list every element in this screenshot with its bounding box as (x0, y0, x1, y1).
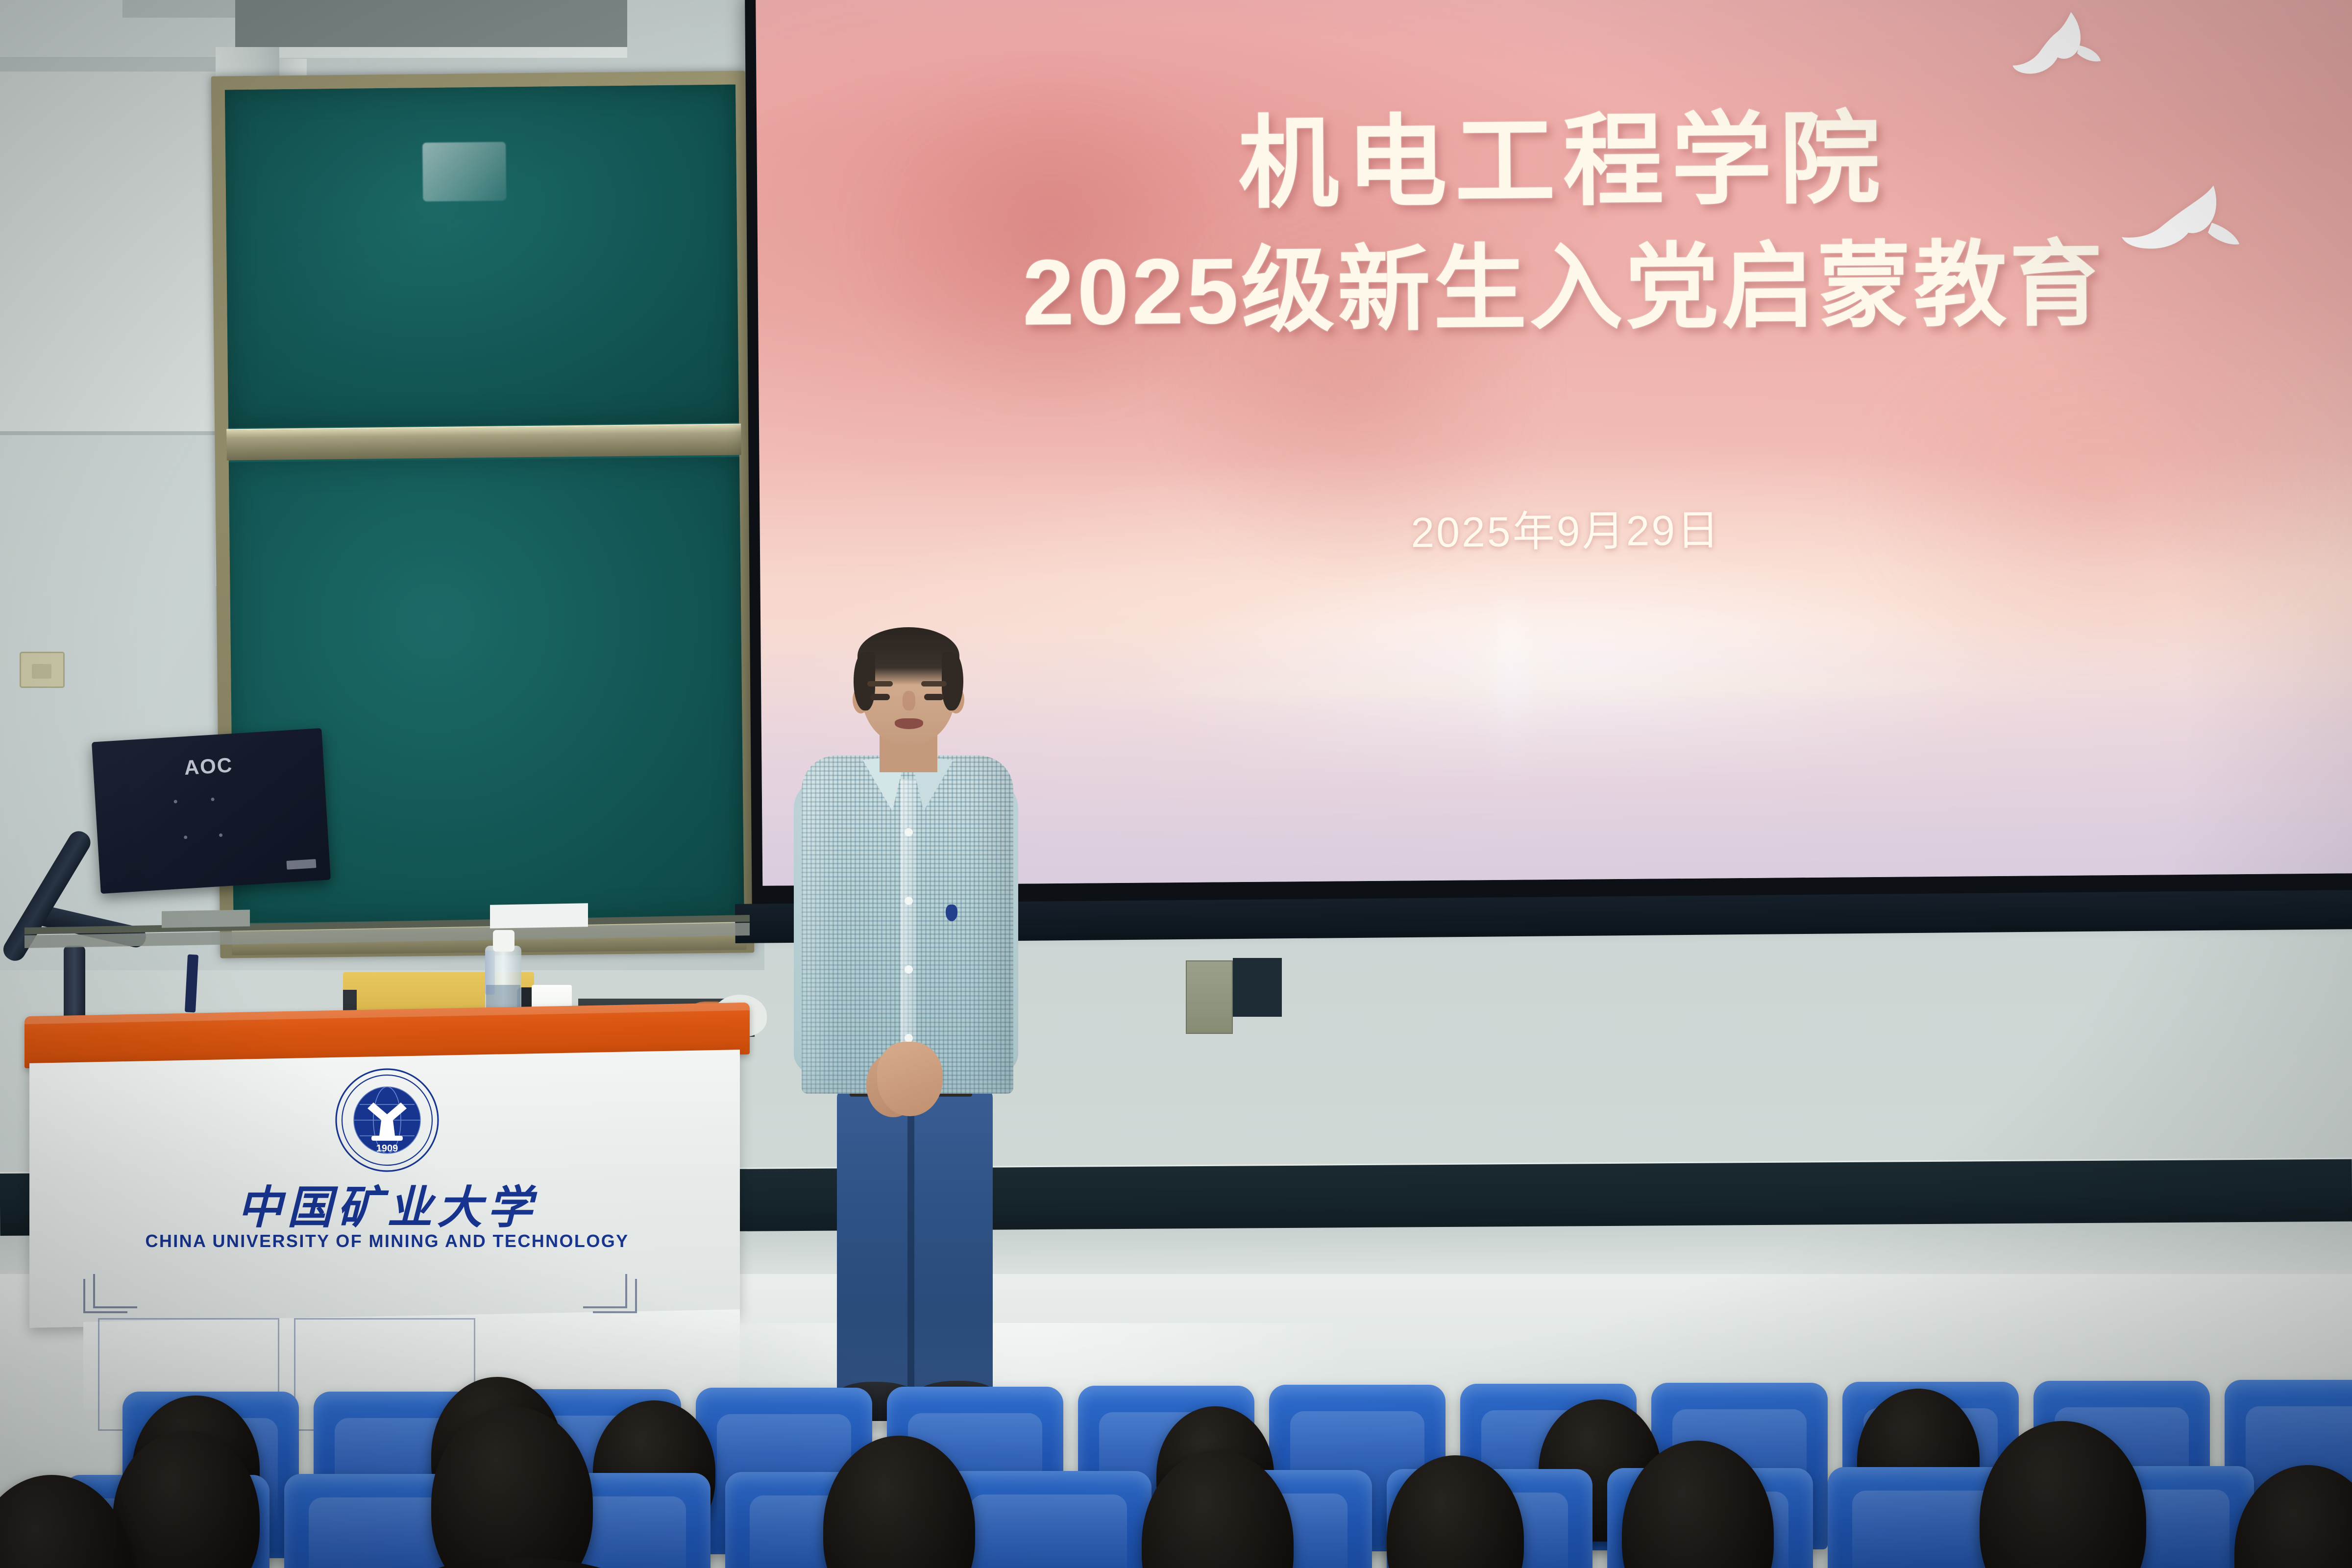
speaker-hand-right (877, 1042, 943, 1116)
blackboard-pane-top (225, 85, 739, 428)
monitor-screw-dot (184, 835, 187, 839)
speaker-shirt-button (905, 897, 913, 905)
wall-seam (0, 431, 216, 435)
wall-mounted-socket-box[interactable] (1186, 960, 1233, 1034)
speaker-eye-left (870, 694, 890, 700)
aoc-logo: AOC (183, 753, 233, 780)
wall-socket-shadow (1233, 958, 1282, 1017)
speaker-eyebrow-left (867, 681, 893, 686)
monitor-spec-label (287, 859, 317, 870)
ceiling-soffit-edge (0, 58, 216, 72)
speaker-eyebrow-right (921, 681, 947, 686)
speaker-mouth (895, 718, 923, 729)
slide-title-line1: 机电工程学院 (1238, 109, 1888, 214)
slide-date: 2025年9月29日 (1411, 495, 1721, 559)
ceiling-soffit-lip (245, 47, 627, 58)
speaker-eye-right (924, 694, 944, 700)
desk-white-box (490, 903, 588, 928)
computer-monitor[interactable]: AOC (92, 728, 331, 894)
audience-area: 6 (0, 1245, 2352, 1568)
water-bottle-cap[interactable] (493, 930, 514, 952)
monitor-screw-dot (173, 800, 177, 803)
speaker-shirt-button (905, 965, 913, 974)
svg-text:1909: 1909 (376, 1143, 398, 1154)
university-crest-icon: 1909 (334, 1067, 440, 1176)
speaker-shirt-button (905, 1034, 913, 1042)
lecture-hall-photo: 机电工程学院 2025级新生入党启蒙教育 2025年9月29日 (0, 0, 2352, 1568)
blackboard-middle-rail (226, 423, 741, 460)
desk-grey-box (162, 909, 250, 928)
auditorium-seat[interactable] (946, 1471, 1151, 1568)
speaker-shirt-button (905, 828, 913, 836)
monitor-screw-dot (219, 833, 222, 837)
slide-title-line2: 2025级新生入党启蒙教育 (1022, 238, 2106, 339)
speaker-nose (903, 691, 915, 710)
dove-icon-upper (2010, 4, 2128, 98)
light-switch-plate[interactable] (20, 652, 65, 688)
dove-icon-lower (2119, 179, 2262, 278)
podium-university-name-cn: 中国矿业大学 (237, 1171, 537, 1236)
plastic-wrap-corner (422, 142, 506, 201)
speaker-shirt-logo (946, 905, 957, 921)
ceiling-recess (235, 0, 627, 47)
wall-panel-left (0, 72, 216, 434)
monitor-screw-dot (211, 798, 214, 801)
